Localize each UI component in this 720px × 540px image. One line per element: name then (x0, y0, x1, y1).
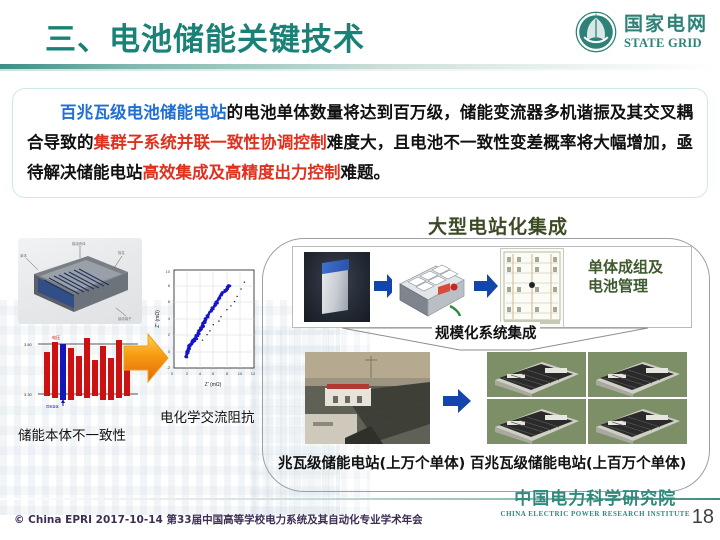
station-tile-2 (588, 352, 687, 397)
svg-text:6: 6 (212, 371, 215, 376)
cell-grouping-label-line2: 电池管理 (588, 277, 698, 296)
svg-text:异常单体: 异常单体 (46, 404, 60, 408)
footer-copyright: © China EPRI 2017-10-14 第33届中国高等学校电力系统及其… (14, 512, 423, 527)
paragraph-highlight-blue-1: 百兆瓦级电池储能电站 (60, 103, 227, 122)
svg-text:2: 2 (186, 371, 189, 376)
svg-text:8: 8 (226, 371, 229, 376)
epri-logo-en: CHINA ELECTRIC POWER RESEARCH INSTITUTE (501, 510, 690, 518)
scatter-chart-caption: 电化学交流阻抗 (160, 406, 255, 426)
page-number: 18 (692, 506, 714, 529)
paragraph-highlight-red-2: 高效集成及高精度出力控制 (143, 163, 341, 182)
state-grid-en: STATE GRID (624, 37, 708, 50)
station-tile-svg-1 (487, 352, 586, 397)
svg-text:12: 12 (251, 371, 256, 376)
scale-integration-label: 规模化系统集成 (432, 322, 540, 343)
svg-text:10: 10 (166, 269, 171, 274)
svg-text:3.30: 3.30 (24, 392, 33, 397)
battery-rack-image (500, 248, 564, 328)
svg-text:接线端子: 接线端子 (118, 316, 132, 321)
svg-text:4: 4 (168, 316, 171, 321)
blue-arrow-icon-2 (474, 272, 498, 300)
station-tile-4 (588, 399, 687, 444)
epri-logo: 中国电力科学研究院 CHINA ELECTRIC POWER RESEARCH … (501, 484, 690, 518)
battery-module-image (392, 250, 470, 324)
caption-hundred-mw-station: 百兆瓦级储能电站(上百万个单体) (470, 452, 686, 473)
svg-text:10: 10 (238, 371, 243, 376)
scatter-xlabel: Z' (mΩ) (205, 382, 222, 388)
summary-text-box: 百兆瓦级电池储能电站的电池单体数量将达到百万级，储能变流器多机谐振及其交叉耦合导… (12, 88, 708, 198)
paragraph-text-3: 难题。 (341, 163, 391, 182)
svg-text:单体: 单体 (20, 253, 27, 258)
station-tile-svg-3 (487, 399, 586, 444)
scatter-ylabel: Z" (mΩ) (155, 310, 161, 328)
state-grid-emblem-icon: ※ (575, 11, 617, 53)
svg-text:极柱: 极柱 (118, 250, 125, 255)
epri-logo-cn: 中国电力科学研究院 (501, 484, 690, 509)
cell-grouping-label: 单体成组及 电池管理 (588, 258, 698, 296)
battery-module-drawing-icon: 单体模组壳体 极柱接线端子 (18, 238, 142, 324)
slide-header: 三、电池储能关键技术 ※ 国家电网 STATE GRID (0, 0, 720, 72)
svg-text:4: 4 (199, 371, 202, 376)
header-divider-secondary (0, 69, 720, 71)
svg-text:电压: 电压 (52, 334, 60, 340)
blue-arrow-icon-3 (443, 388, 471, 414)
battery-module-photo: 单体模组壳体 极柱接线端子 (18, 238, 142, 324)
right-panel-heading: 大型电站化集成 (428, 212, 568, 239)
station-tile-svg-4 (588, 399, 687, 444)
state-grid-logo-text: 国家电网 STATE GRID (624, 15, 708, 50)
station-tile-1 (487, 352, 586, 397)
cell-grouping-label-line1: 单体成组及 (588, 258, 698, 277)
page-title: 三、电池储能关键技术 (45, 14, 365, 59)
orange-arrow-icon (120, 328, 172, 388)
station-tile-svg-2 (588, 352, 687, 397)
state-grid-cn: 国家电网 (624, 15, 708, 34)
svg-text:6: 6 (168, 299, 171, 304)
battery-cell-image (304, 252, 370, 322)
svg-text:3.80: 3.80 (24, 342, 33, 347)
station-tile-3 (487, 399, 586, 444)
hundred-mw-station-photo (487, 352, 687, 444)
paragraph-highlight-red-1: 集群子系统并联一致性协调控制 (94, 133, 327, 152)
bar-chart-caption: 储能本体不一致性 (18, 424, 126, 444)
mw-station-photo (305, 352, 430, 444)
svg-text:8: 8 (168, 283, 171, 288)
svg-text:模组壳体: 模组壳体 (72, 241, 86, 246)
state-grid-logo: ※ 国家电网 STATE GRID (575, 8, 708, 56)
summary-paragraph: 百兆瓦级电池储能电站的电池单体数量将达到百万级，储能变流器多机谐振及其交叉耦合导… (27, 98, 693, 188)
mw-station-aerial-svg (305, 352, 430, 444)
caption-mw-station: 兆瓦级储能电站(上万个单体) (278, 452, 465, 473)
